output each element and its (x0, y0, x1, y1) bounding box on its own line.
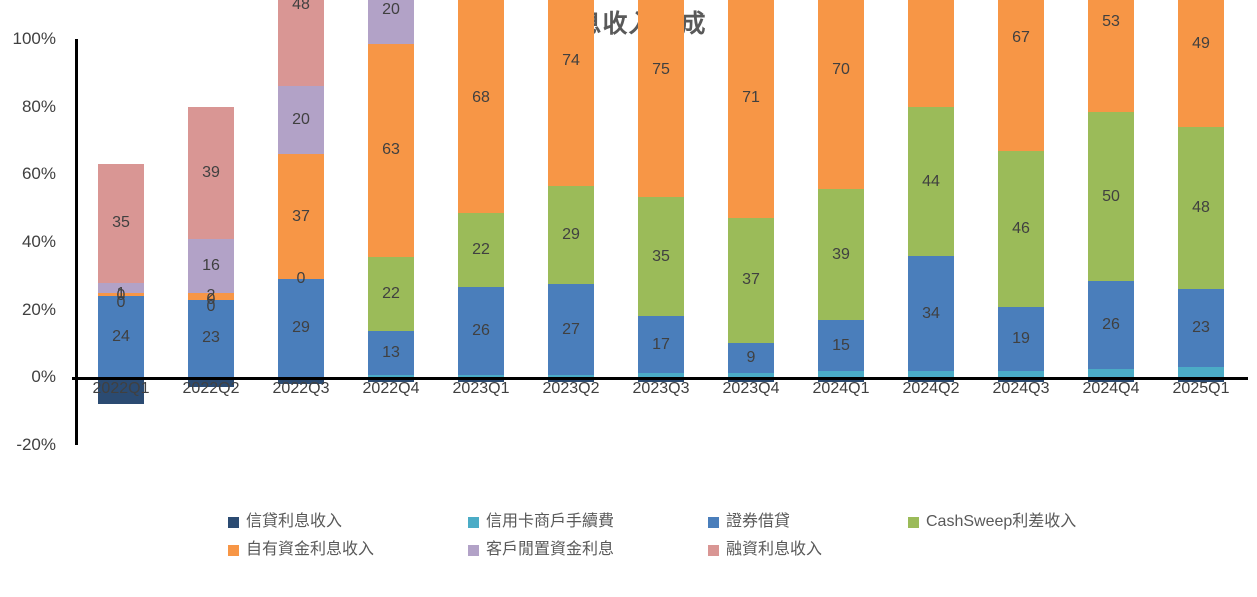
legend-item-label: 信貸利息收入 (246, 514, 342, 530)
bar-segment[interactable] (98, 283, 145, 293)
x-axis-tick-label: 2024Q2 (886, 380, 976, 398)
y-axis-tick-label: 80% (0, 97, 56, 117)
legend-item-label: CashSweep利差收入 (926, 514, 1076, 530)
bar-segment[interactable] (548, 186, 595, 284)
bar-segment[interactable] (368, 257, 415, 331)
bar-segment[interactable] (1178, 367, 1225, 377)
x-axis-tick-label: 2022Q4 (346, 380, 436, 398)
x-axis-tick-label: 2022Q2 (166, 380, 256, 398)
bar-segment[interactable] (998, 307, 1045, 371)
legend-color-swatch-icon (468, 545, 479, 556)
bar-segment[interactable] (188, 239, 235, 293)
x-axis-tick-label: 2023Q4 (706, 380, 796, 398)
legend-item-label: 證券借貸 (726, 514, 790, 530)
x-axis-tick-label: 2023Q3 (616, 380, 706, 398)
legend-item-label: 融資利息收入 (726, 542, 822, 558)
bar-segment[interactable] (548, 0, 595, 186)
bar-segment[interactable] (998, 0, 1045, 151)
bar-segment[interactable] (548, 284, 595, 375)
legend-item[interactable]: 信貸利息收入 (228, 514, 468, 530)
legend-item[interactable]: 客戶閒置資金利息 (468, 542, 708, 558)
legend-color-swatch-icon (228, 545, 239, 556)
bar-segment[interactable] (638, 0, 685, 197)
y-axis-tick-label: 40% (0, 232, 56, 252)
x-axis-tick-label: 2023Q2 (526, 380, 616, 398)
chart-title: 利息收入構成 (0, 4, 1257, 40)
bar-segment[interactable] (818, 0, 865, 189)
bar-segment[interactable] (278, 86, 325, 154)
bar-segment[interactable] (188, 293, 235, 300)
bar-segment[interactable] (728, 218, 775, 343)
bar-segment[interactable] (98, 296, 145, 377)
chart-legend: 信貸利息收入信用卡商戶手續費證券借貸CashSweep利差收入自有資金利息收入客… (228, 508, 1158, 564)
legend-item[interactable]: 信用卡商戶手續費 (468, 514, 708, 530)
bar-segment[interactable] (458, 0, 505, 213)
bar-segment[interactable] (1178, 127, 1225, 289)
legend-color-swatch-icon (908, 517, 919, 528)
bar-segment[interactable] (458, 287, 505, 375)
bar-segment[interactable] (1088, 0, 1135, 112)
x-axis-tick-label: 2022Q1 (76, 380, 166, 398)
bar-segment[interactable] (638, 197, 685, 315)
bar-segment[interactable] (728, 0, 775, 218)
bar-segment[interactable] (818, 320, 865, 371)
legend-item-label: 自有資金利息收入 (246, 542, 374, 558)
legend-color-swatch-icon (468, 517, 479, 528)
x-axis-tick-label: 2023Q1 (436, 380, 526, 398)
bar-segment[interactable] (1088, 281, 1135, 369)
y-axis-tick-label: -20% (0, 435, 56, 455)
y-axis-tick-label: 100% (0, 29, 56, 49)
legend-color-swatch-icon (228, 517, 239, 528)
bar-segment[interactable] (728, 343, 775, 373)
legend-item-label: 客戶閒置資金利息 (486, 542, 614, 558)
bar-segment[interactable] (908, 107, 955, 256)
y-axis-tick-label: 60% (0, 164, 56, 184)
bar-segment[interactable] (1178, 0, 1225, 127)
bar-segment[interactable] (98, 164, 145, 282)
plot-area: -20%0%20%40%60%80%100% 24013502302163902… (76, 39, 1246, 445)
legend-item[interactable]: CashSweep利差收入 (908, 514, 1158, 530)
bar-segment[interactable] (368, 44, 415, 257)
bar-segment[interactable] (818, 189, 865, 321)
bar-segment[interactable] (908, 0, 955, 107)
bar-segment[interactable] (1178, 289, 1225, 367)
interest-income-composition-chart: 利息收入構成 -20%0%20%40%60%80%100% 2401350230… (0, 0, 1257, 597)
x-axis-tick-label: 2025Q1 (1156, 380, 1246, 398)
x-axis-tick-label: 2022Q3 (256, 380, 346, 398)
legend-color-swatch-icon (708, 545, 719, 556)
bar-segment[interactable] (368, 331, 415, 375)
bar-segment[interactable] (188, 300, 235, 378)
x-axis-tick-label: 2024Q4 (1066, 380, 1156, 398)
legend-item[interactable]: 自有資金利息收入 (228, 542, 468, 558)
bar-segment[interactable] (188, 107, 235, 239)
y-axis-tick-label: 20% (0, 300, 56, 320)
y-axis-tick-label: 0% (0, 367, 56, 387)
bar-segment[interactable] (278, 279, 325, 377)
legend-item[interactable]: 證券借貸 (708, 514, 908, 530)
legend-item-label: 信用卡商戶手續費 (486, 514, 614, 530)
x-axis-tick-label: 2024Q3 (976, 380, 1066, 398)
bar-segment[interactable] (998, 151, 1045, 307)
bar-segment[interactable] (638, 316, 685, 374)
bar-segment[interactable] (278, 154, 325, 279)
bar-segment[interactable] (368, 0, 415, 44)
x-axis-tick-label: 2024Q1 (796, 380, 886, 398)
legend-item[interactable]: 融資利息收入 (708, 542, 908, 558)
bar-segment[interactable] (98, 293, 145, 296)
bar-segment[interactable] (278, 0, 325, 86)
bar-segment[interactable] (458, 213, 505, 287)
bar-segment[interactable] (908, 256, 955, 371)
legend-color-swatch-icon (708, 517, 719, 528)
bar-segment[interactable] (1088, 112, 1135, 281)
